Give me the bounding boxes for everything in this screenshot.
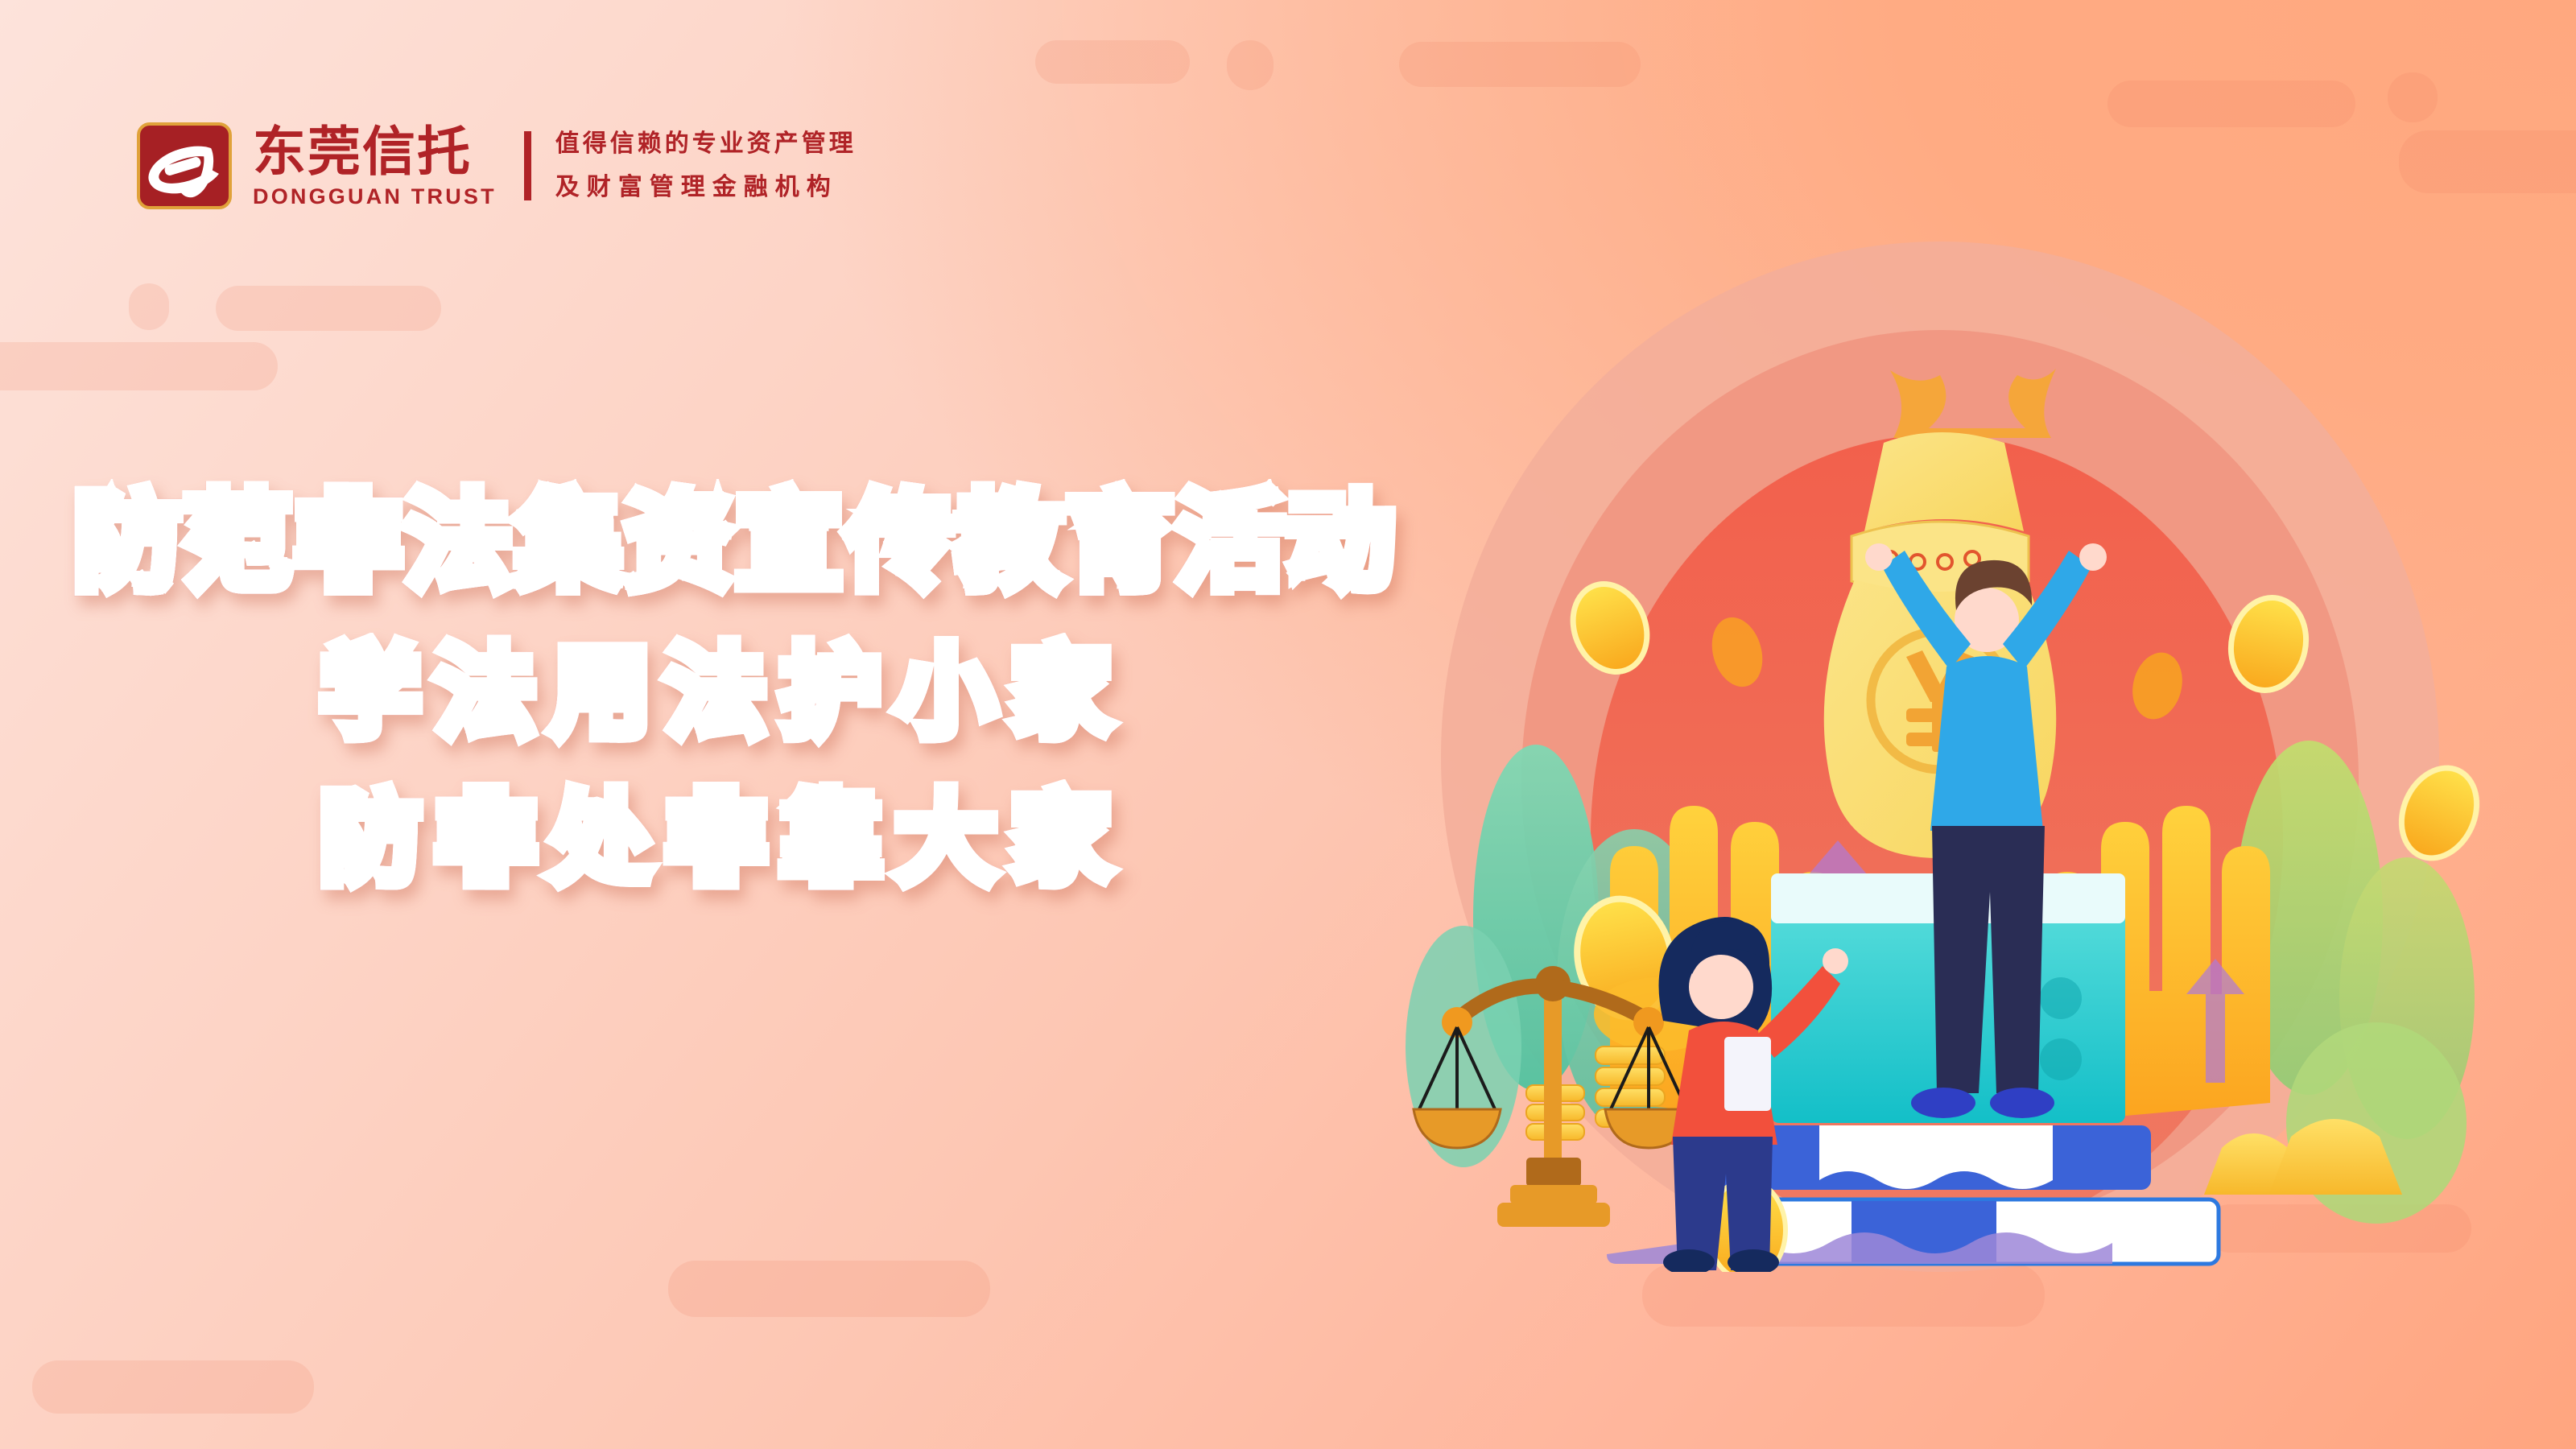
logo-divider [524, 131, 531, 200]
brand-name-cn: 东莞信托 [253, 125, 497, 178]
headline-line-1: 防范非法集资宣传教育活动 [0, 480, 1385, 605]
bg-deco-shape [129, 283, 169, 330]
bg-deco-shape [2388, 72, 2438, 122]
bg-deco-shape [2107, 80, 2355, 127]
bg-deco-shape [216, 286, 441, 331]
bg-deco-shape [1642, 1264, 2045, 1327]
bg-deco-shape [1399, 42, 1641, 87]
headline-line-3: 防非处非靠大家 [0, 781, 1385, 898]
headline-line-2: 学法用法护小家 [0, 634, 1385, 752]
tagline-line-1: 值得信赖的专业资产管理 [555, 132, 857, 156]
brand-logo-block: 东莞信托 DONGGUAN TRUST 值得信赖的专业资产管理 及财富管理金融机… [137, 122, 857, 209]
dongguan-trust-logo-icon [137, 122, 232, 209]
headline-block: 防范非法集资宣传教育活动 学法用法护小家 防非处非靠大家 [0, 480, 1385, 898]
bg-deco-shape [32, 1360, 314, 1414]
promotional-banner: 东莞信托 DONGGUAN TRUST 值得信赖的专业资产管理 及财富管理金融机… [0, 0, 2576, 1449]
bg-deco-shape [0, 342, 278, 390]
bg-deco-shape [1227, 40, 1274, 90]
brand-name-en: DONGGUAN TRUST [253, 186, 497, 208]
brand-tagline: 值得信赖的专业资产管理 及财富管理金融机构 [555, 132, 857, 200]
tagline-line-2: 及财富管理金融机构 [555, 175, 857, 200]
bg-deco-shape [668, 1261, 990, 1317]
bg-deco-shape [1035, 40, 1190, 84]
brand-name-group: 东莞信托 DONGGUAN TRUST [253, 125, 497, 208]
anti-illegal-fundraising-illustration [1368, 145, 2512, 1272]
